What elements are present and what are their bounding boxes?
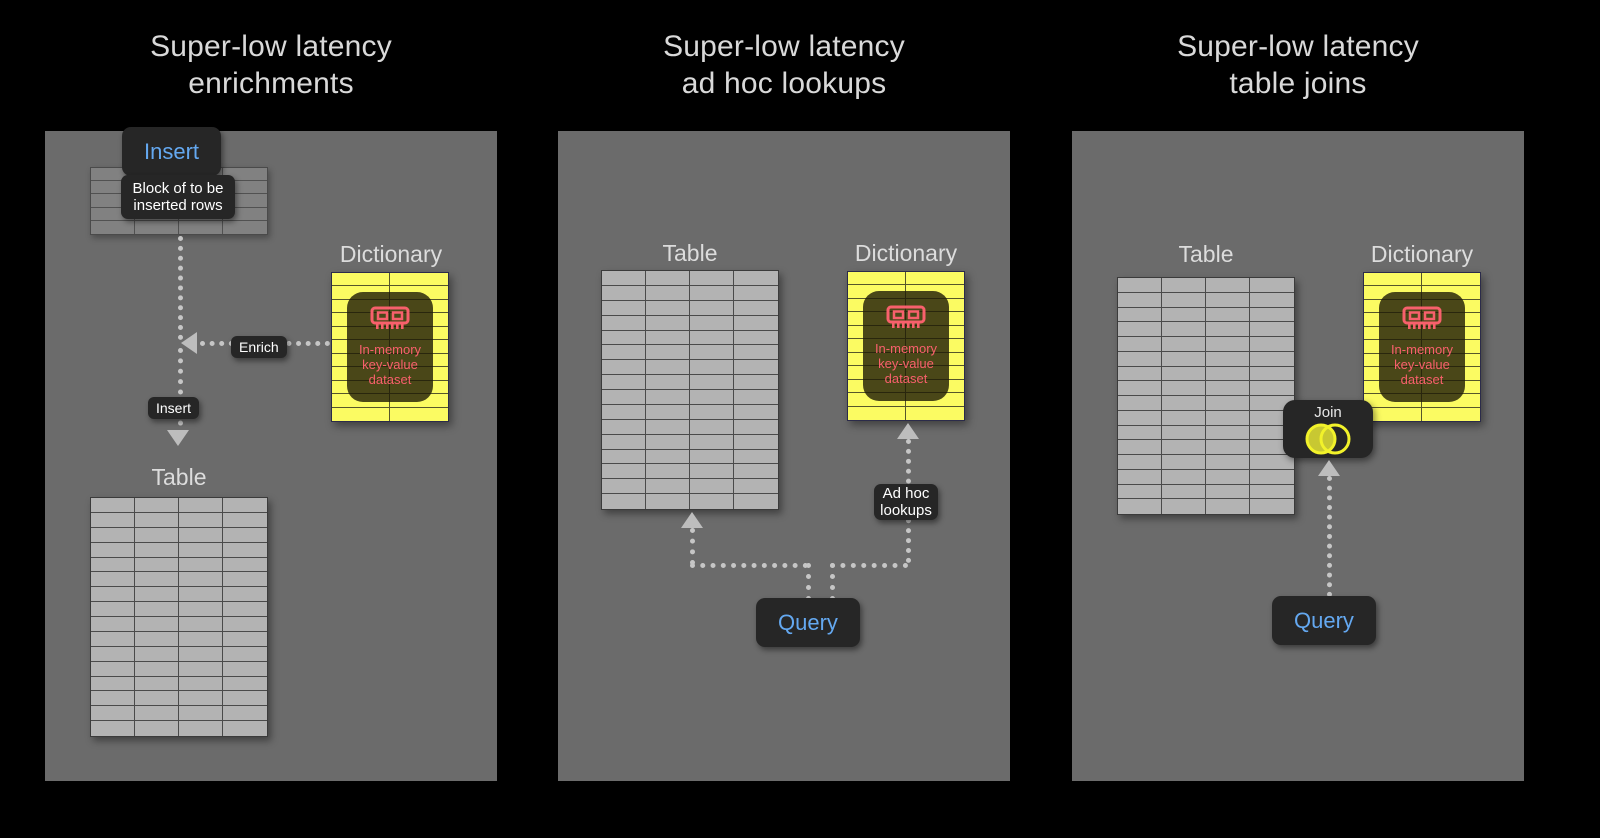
grid-cell bbox=[646, 450, 690, 465]
arrow-enrich-into-stream bbox=[181, 332, 197, 354]
grid-cell bbox=[1162, 293, 1206, 308]
grid-cell bbox=[646, 494, 690, 509]
dictionary-dataset-text: In-memory key-value dataset bbox=[1391, 342, 1453, 388]
grid-cell bbox=[223, 513, 267, 528]
block-of-rows-label: Block of to be inserted rows bbox=[121, 175, 235, 219]
grid-cell bbox=[1118, 440, 1162, 455]
grid-cell bbox=[646, 405, 690, 420]
grid-cell bbox=[646, 345, 690, 360]
dictionary-p2: In-memory key-value dataset bbox=[847, 271, 965, 421]
panel-title-joins: Super-low latency table joins bbox=[1072, 28, 1524, 102]
grid-cell bbox=[1206, 367, 1250, 382]
grid-cell bbox=[1118, 367, 1162, 382]
grid-cell bbox=[690, 420, 734, 435]
grid-cell bbox=[602, 390, 646, 405]
grid-cell bbox=[690, 435, 734, 450]
grid-cell bbox=[179, 602, 223, 617]
grid-cell bbox=[1118, 352, 1162, 367]
ad-hoc-lookups-label: Ad hoc lookups bbox=[874, 484, 938, 520]
grid-cell bbox=[1206, 426, 1250, 441]
grid-cell bbox=[1118, 411, 1162, 426]
join-label: Join bbox=[1314, 405, 1342, 421]
grid-cell bbox=[91, 543, 135, 558]
grid-cell bbox=[646, 420, 690, 435]
grid-cell bbox=[734, 286, 778, 301]
grid-cell bbox=[734, 345, 778, 360]
grid-cell bbox=[602, 286, 646, 301]
grid-cell bbox=[602, 479, 646, 494]
query-badge-p3[interactable]: Query bbox=[1272, 596, 1376, 645]
grid-cell bbox=[1206, 455, 1250, 470]
grid-cell bbox=[135, 662, 179, 677]
grid-cell bbox=[1162, 485, 1206, 500]
grid-cell bbox=[135, 587, 179, 602]
grid-cell bbox=[179, 587, 223, 602]
grid-cell bbox=[1250, 352, 1294, 367]
grid-cell bbox=[179, 691, 223, 706]
table-p3 bbox=[1117, 277, 1295, 515]
grid-cell bbox=[223, 498, 267, 513]
grid-cell bbox=[179, 498, 223, 513]
grid-cell bbox=[223, 662, 267, 677]
grid-cell bbox=[1206, 308, 1250, 323]
grid-cell bbox=[390, 408, 448, 421]
grid-cell bbox=[1162, 337, 1206, 352]
grid-cell bbox=[1118, 293, 1162, 308]
grid-cell bbox=[135, 677, 179, 692]
grid-cell bbox=[223, 558, 267, 573]
grid-cell bbox=[690, 301, 734, 316]
grid-cell bbox=[1250, 455, 1294, 470]
grid-cell bbox=[602, 464, 646, 479]
grid-cell bbox=[646, 360, 690, 375]
grid-cell bbox=[1206, 278, 1250, 293]
grid-cell bbox=[223, 632, 267, 647]
grid-cell bbox=[390, 273, 448, 286]
grid-cell bbox=[135, 632, 179, 647]
grid-cell bbox=[91, 528, 135, 543]
grid-cell bbox=[135, 721, 179, 736]
grid-cell bbox=[602, 420, 646, 435]
grid-cell bbox=[1162, 499, 1206, 514]
grid-cell bbox=[223, 617, 267, 632]
grid-cell bbox=[906, 407, 964, 420]
dictionary-label-p1: Dictionary bbox=[300, 241, 482, 268]
grid-cell bbox=[223, 602, 267, 617]
panel-title-enrichments: Super-low latency enrichments bbox=[45, 28, 497, 102]
grid-cell bbox=[646, 286, 690, 301]
grid-cell bbox=[602, 450, 646, 465]
arrow-query-to-dictionary bbox=[897, 423, 919, 439]
grid-cell bbox=[690, 345, 734, 360]
grid-cell bbox=[179, 617, 223, 632]
grid-cell bbox=[848, 407, 906, 420]
grid-cell bbox=[1118, 470, 1162, 485]
grid-cell bbox=[848, 272, 906, 285]
grid-cell bbox=[1250, 308, 1294, 323]
grid-cell bbox=[734, 390, 778, 405]
grid-cell bbox=[1162, 426, 1206, 441]
grid-cell bbox=[223, 706, 267, 721]
grid-cell bbox=[690, 390, 734, 405]
ram-memory-icon bbox=[886, 305, 926, 334]
grid-cell bbox=[602, 345, 646, 360]
grid-cell bbox=[1206, 322, 1250, 337]
grid-cell bbox=[1118, 322, 1162, 337]
grid-cell bbox=[1206, 352, 1250, 367]
grid-cell bbox=[179, 632, 223, 647]
connector-insert-vertical-bottom bbox=[178, 348, 183, 436]
insert-label-lower: Insert bbox=[148, 397, 199, 419]
grid-cell bbox=[179, 662, 223, 677]
table-label-p1: Table bbox=[90, 464, 268, 491]
diagram-canvas: Super-low latency enrichments Super-low … bbox=[0, 0, 1600, 838]
grid-cell bbox=[602, 375, 646, 390]
grid-cell bbox=[1250, 278, 1294, 293]
grid-cell bbox=[1162, 381, 1206, 396]
grid-cell bbox=[646, 479, 690, 494]
grid-cell bbox=[135, 647, 179, 662]
grid-cell bbox=[734, 405, 778, 420]
join-badge[interactable]: Join bbox=[1283, 400, 1373, 458]
grid-cell bbox=[179, 543, 223, 558]
grid-cell bbox=[179, 528, 223, 543]
grid-cell bbox=[91, 662, 135, 677]
grid-cell bbox=[602, 316, 646, 331]
grid-cell bbox=[690, 316, 734, 331]
grid-cell bbox=[1250, 322, 1294, 337]
grid-cell bbox=[1206, 440, 1250, 455]
grid-cell bbox=[91, 691, 135, 706]
grid-cell bbox=[734, 494, 778, 509]
grid-cell bbox=[223, 721, 267, 736]
grid-cell bbox=[734, 450, 778, 465]
grid-cell bbox=[646, 316, 690, 331]
grid-cell bbox=[223, 221, 267, 234]
grid-cell bbox=[332, 273, 390, 286]
grid-cell bbox=[602, 435, 646, 450]
grid-cell bbox=[690, 286, 734, 301]
grid-cell bbox=[1422, 273, 1480, 286]
grid-cell bbox=[91, 677, 135, 692]
grid-cell bbox=[1118, 308, 1162, 323]
grid-cell bbox=[1162, 308, 1206, 323]
grid-cell bbox=[602, 301, 646, 316]
grid-cell bbox=[91, 706, 135, 721]
ram-memory-icon bbox=[1402, 306, 1442, 335]
grid-cell bbox=[91, 587, 135, 602]
grid-cell bbox=[223, 528, 267, 543]
table-p2 bbox=[601, 270, 779, 510]
grid-cell bbox=[1206, 411, 1250, 426]
grid-cell bbox=[91, 647, 135, 662]
grid-cell bbox=[690, 331, 734, 346]
connector-query-left-down bbox=[806, 563, 811, 601]
grid-cell bbox=[1162, 322, 1206, 337]
grid-cell bbox=[734, 301, 778, 316]
dictionary-dataset-text: In-memory key-value dataset bbox=[875, 341, 937, 387]
grid-cell bbox=[135, 617, 179, 632]
grid-cell bbox=[1162, 440, 1206, 455]
grid-cell bbox=[1250, 485, 1294, 500]
table-p1 bbox=[90, 497, 268, 737]
grid-cell bbox=[690, 360, 734, 375]
grid-cell bbox=[646, 375, 690, 390]
grid-cell bbox=[1206, 470, 1250, 485]
grid-cell bbox=[734, 316, 778, 331]
arrow-query-to-table bbox=[681, 512, 703, 528]
grid-cell bbox=[223, 647, 267, 662]
grid-cell bbox=[91, 602, 135, 617]
dictionary-dataset-text: In-memory key-value dataset bbox=[359, 342, 421, 388]
dictionary-label-p2: Dictionary bbox=[815, 240, 997, 267]
grid-cell bbox=[1162, 396, 1206, 411]
grid-cell bbox=[135, 513, 179, 528]
grid-cell bbox=[646, 271, 690, 286]
grid-cell bbox=[179, 558, 223, 573]
grid-cell bbox=[906, 272, 964, 285]
grid-cell bbox=[1250, 499, 1294, 514]
grid-cell bbox=[179, 572, 223, 587]
grid-cell bbox=[734, 464, 778, 479]
connector-query-right-down bbox=[830, 563, 835, 601]
dictionary-p3: In-memory key-value dataset bbox=[1363, 272, 1481, 422]
enrich-label: Enrich bbox=[231, 336, 287, 358]
grid-cell bbox=[91, 498, 135, 513]
grid-cell bbox=[646, 331, 690, 346]
grid-cell bbox=[734, 375, 778, 390]
grid-cell bbox=[179, 221, 223, 234]
grid-cell bbox=[1162, 352, 1206, 367]
grid-cell bbox=[602, 405, 646, 420]
grid-cell bbox=[1206, 485, 1250, 500]
grid-cell bbox=[1206, 293, 1250, 308]
grid-cell bbox=[91, 572, 135, 587]
grid-cell bbox=[1206, 396, 1250, 411]
grid-cell bbox=[179, 721, 223, 736]
grid-cell bbox=[1118, 337, 1162, 352]
grid-cell bbox=[179, 513, 223, 528]
grid-cell bbox=[734, 271, 778, 286]
grid-cell bbox=[223, 691, 267, 706]
grid-cell bbox=[1118, 426, 1162, 441]
grid-cell bbox=[91, 617, 135, 632]
grid-cell bbox=[1250, 337, 1294, 352]
in-memory-dataset-overlay: In-memory key-value dataset bbox=[1379, 292, 1465, 402]
connector-table-vertical bbox=[690, 528, 695, 565]
connector-query-right-horizontal bbox=[830, 563, 908, 568]
grid-cell bbox=[179, 677, 223, 692]
panel-title-lookups: Super-low latency ad hoc lookups bbox=[558, 28, 1010, 102]
grid-cell bbox=[91, 721, 135, 736]
grid-cell bbox=[1206, 337, 1250, 352]
grid-cell bbox=[690, 375, 734, 390]
grid-cell bbox=[179, 706, 223, 721]
connector-query-join-vertical bbox=[1327, 476, 1332, 597]
grid-cell bbox=[1206, 381, 1250, 396]
grid-cell bbox=[223, 587, 267, 602]
grid-cell bbox=[1422, 408, 1480, 421]
arrow-insert-into-table bbox=[167, 430, 189, 446]
in-memory-dataset-overlay: In-memory key-value dataset bbox=[347, 292, 433, 402]
grid-cell bbox=[91, 558, 135, 573]
grid-cell bbox=[602, 494, 646, 509]
ram-memory-icon bbox=[370, 306, 410, 335]
grid-cell bbox=[690, 494, 734, 509]
grid-cell bbox=[734, 479, 778, 494]
arrow-query-to-join bbox=[1318, 460, 1340, 476]
grid-cell bbox=[1250, 367, 1294, 382]
grid-cell bbox=[135, 498, 179, 513]
grid-cell bbox=[690, 405, 734, 420]
grid-cell bbox=[223, 677, 267, 692]
grid-cell bbox=[135, 528, 179, 543]
grid-cell bbox=[135, 706, 179, 721]
grid-cell bbox=[602, 360, 646, 375]
grid-cell bbox=[646, 464, 690, 479]
grid-cell bbox=[1118, 278, 1162, 293]
grid-cell bbox=[135, 602, 179, 617]
table-label-p3: Table bbox=[1117, 241, 1295, 268]
grid-cell bbox=[690, 450, 734, 465]
grid-cell bbox=[690, 479, 734, 494]
grid-cell bbox=[690, 271, 734, 286]
grid-cell bbox=[1162, 278, 1206, 293]
grid-cell bbox=[1118, 455, 1162, 470]
grid-cell bbox=[734, 360, 778, 375]
grid-cell bbox=[223, 572, 267, 587]
grid-cell bbox=[1162, 470, 1206, 485]
grid-cell bbox=[91, 513, 135, 528]
venn-join-icon bbox=[1299, 422, 1357, 461]
grid-cell bbox=[135, 221, 179, 234]
table-label-p2: Table bbox=[601, 240, 779, 267]
grid-cell bbox=[91, 632, 135, 647]
grid-cell bbox=[1250, 293, 1294, 308]
query-badge-p2[interactable]: Query bbox=[756, 598, 860, 647]
grid-cell bbox=[1162, 455, 1206, 470]
grid-cell bbox=[1162, 367, 1206, 382]
grid-cell bbox=[179, 647, 223, 662]
grid-cell bbox=[734, 331, 778, 346]
grid-cell bbox=[646, 435, 690, 450]
insert-badge-top[interactable]: Insert bbox=[122, 127, 221, 176]
grid-cell bbox=[602, 271, 646, 286]
grid-cell bbox=[135, 558, 179, 573]
grid-cell bbox=[1118, 485, 1162, 500]
dictionary-label-p3: Dictionary bbox=[1331, 241, 1513, 268]
grid-cell bbox=[602, 331, 646, 346]
grid-cell bbox=[1118, 499, 1162, 514]
grid-cell bbox=[1250, 381, 1294, 396]
grid-cell bbox=[1364, 273, 1422, 286]
grid-cell bbox=[734, 420, 778, 435]
grid-cell bbox=[223, 543, 267, 558]
in-memory-dataset-overlay: In-memory key-value dataset bbox=[863, 291, 949, 401]
grid-cell bbox=[1162, 411, 1206, 426]
connector-insert-vertical-top bbox=[178, 236, 183, 340]
dictionary-p1: In-memory key-value dataset bbox=[331, 272, 449, 422]
grid-cell bbox=[135, 691, 179, 706]
grid-cell bbox=[135, 543, 179, 558]
grid-cell bbox=[135, 572, 179, 587]
grid-cell bbox=[332, 408, 390, 421]
grid-cell bbox=[690, 464, 734, 479]
grid-cell bbox=[1118, 396, 1162, 411]
grid-cell bbox=[1250, 470, 1294, 485]
grid-cell bbox=[91, 221, 135, 234]
grid-cell bbox=[646, 301, 690, 316]
grid-cell bbox=[646, 390, 690, 405]
grid-cell bbox=[1206, 499, 1250, 514]
grid-cell bbox=[734, 435, 778, 450]
connector-query-left-horizontal bbox=[690, 563, 808, 568]
grid-cell bbox=[1118, 381, 1162, 396]
